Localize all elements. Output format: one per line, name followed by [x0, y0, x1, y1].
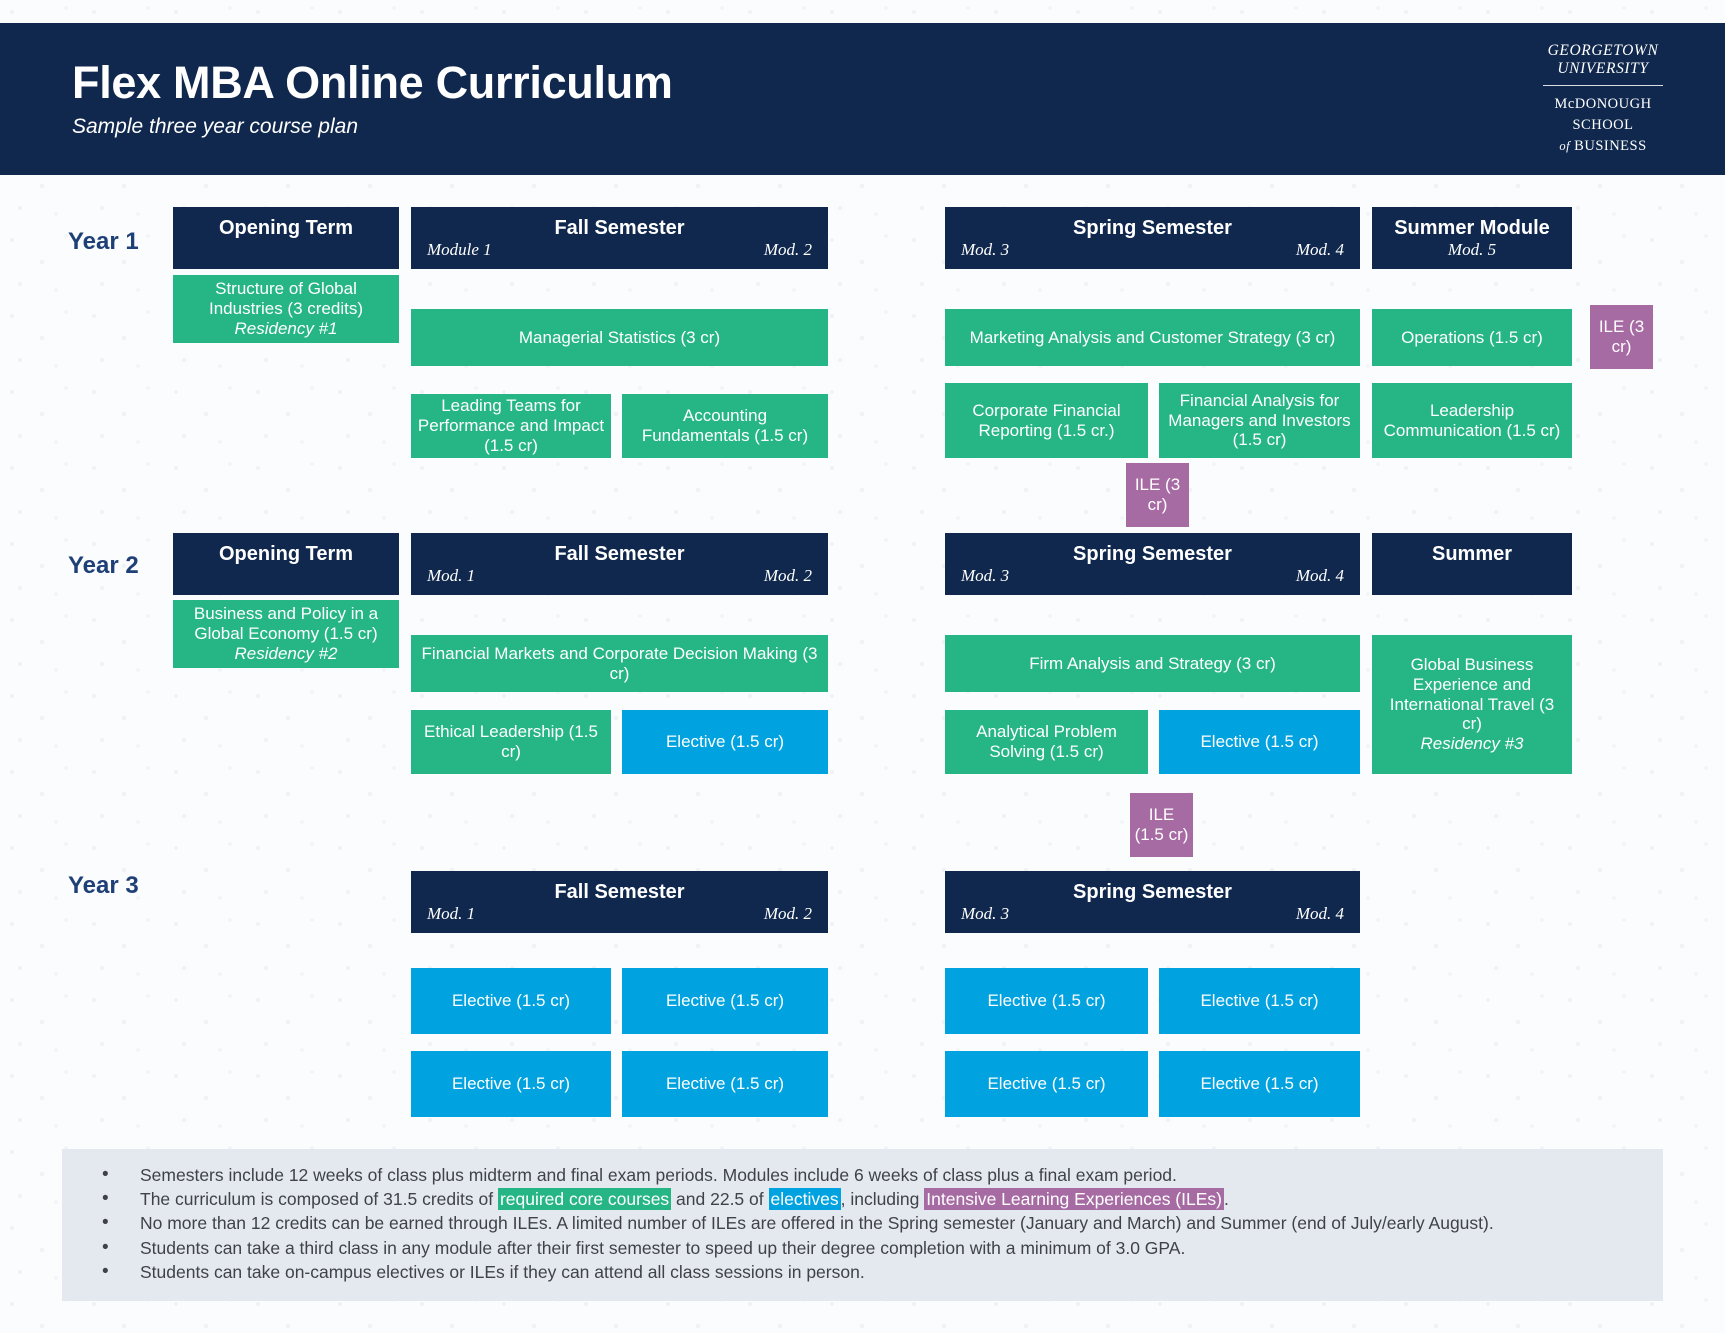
y2-summer-title: Summer — [1372, 543, 1572, 566]
y2-fall-mod-left: Mod. 1 — [427, 566, 475, 586]
y2-summer-global-business-experience: Global Business Experience and Internati… — [1372, 635, 1572, 774]
year-1-label: Year 1 — [68, 228, 139, 256]
y2-fall-title: Fall Semester — [411, 543, 828, 566]
y2-fall-header: Fall Semester Mod. 1 Mod. 2 — [411, 533, 828, 595]
y1-spring-modules: Mod. 3 Mod. 4 — [945, 240, 1360, 260]
y1-fall-mod-right: Mod. 2 — [764, 240, 812, 260]
y2-opening-term-title: Opening Term — [173, 543, 399, 566]
y3-fall-header: Fall Semester Mod. 1 Mod. 2 — [411, 871, 828, 933]
note-item-2: The curriculum is composed of 31.5 credi… — [84, 1187, 1641, 1211]
y1-fall-managerial-statistics: Managerial Statistics (3 cr) — [411, 309, 828, 366]
y1-summer-header: Summer Module Mod. 5 — [1372, 207, 1572, 269]
note2-part-d: . — [1224, 1189, 1229, 1209]
y2-spring-ile: ILE (1.5 cr) — [1130, 793, 1193, 857]
y1-spring-marketing-analysis: Marketing Analysis and Customer Strategy… — [945, 309, 1360, 366]
y2-spring-elective: Elective (1.5 cr) — [1159, 710, 1360, 774]
y2-fall-elective: Elective (1.5 cr) — [622, 710, 828, 774]
y1-spring-financial-analysis: Financial Analysis for Managers and Inve… — [1159, 383, 1360, 458]
y2-opening-residency: Residency #2 — [234, 644, 337, 664]
note2-core-highlight: required core courses — [498, 1188, 671, 1210]
y3-fall-title: Fall Semester — [411, 881, 828, 904]
y3-fall-elective-2: Elective (1.5 cr) — [622, 968, 828, 1034]
y3-fall-elective-1: Elective (1.5 cr) — [411, 968, 611, 1034]
y2-summer-residency: Residency #3 — [1420, 734, 1523, 754]
y1-opening-course-name: Structure of Global Industries (3 credit… — [179, 279, 393, 318]
y3-spring-modules: Mod. 3 Mod. 4 — [945, 904, 1360, 924]
y1-spring-title: Spring Semester — [945, 217, 1360, 240]
y3-spring-mod-left: Mod. 3 — [961, 904, 1009, 924]
y1-summer-mod: Mod. 5 — [1448, 240, 1496, 260]
y1-summer-operations: Operations (1.5 cr) — [1372, 309, 1572, 366]
note-item-4: Students can take a third class in any m… — [84, 1236, 1641, 1260]
y1-fall-header: Fall Semester Module 1 Mod. 2 — [411, 207, 828, 269]
y1-summer-title: Summer Module — [1372, 217, 1572, 240]
y3-spring-elective-1: Elective (1.5 cr) — [945, 968, 1148, 1034]
y1-fall-mod-left: Module 1 — [427, 240, 492, 260]
curriculum-grid: Year 1 Opening Term Structure of Global … — [0, 0, 1725, 1333]
y3-spring-elective-3: Elective (1.5 cr) — [945, 1051, 1148, 1117]
y2-opening-term-course: Business and Policy in a Global Economy … — [173, 600, 399, 668]
y2-fall-mod-right: Mod. 2 — [764, 566, 812, 586]
y2-spring-firm-analysis: Firm Analysis and Strategy (3 cr) — [945, 635, 1360, 692]
year-3-label: Year 3 — [68, 872, 139, 900]
y3-fall-modules: Mod. 1 Mod. 2 — [411, 904, 828, 924]
y3-spring-header: Spring Semester Mod. 3 Mod. 4 — [945, 871, 1360, 933]
y1-fall-leading-teams: Leading Teams for Performance and Impact… — [411, 394, 611, 458]
footer-notes-panel: Semesters include 12 weeks of class plus… — [62, 1149, 1663, 1301]
year-2-label: Year 2 — [68, 552, 139, 580]
note2-part-b: and 22.5 of — [671, 1189, 768, 1209]
y2-spring-mod-left: Mod. 3 — [961, 566, 1009, 586]
note-item-3: No more than 12 credits can be earned th… — [84, 1211, 1641, 1235]
y2-opening-course-name: Business and Policy in a Global Economy … — [179, 604, 393, 643]
y3-spring-elective-2: Elective (1.5 cr) — [1159, 968, 1360, 1034]
y2-fall-ethical-leadership: Ethical Leadership (1.5 cr) — [411, 710, 611, 774]
y2-fall-financial-markets: Financial Markets and Corporate Decision… — [411, 635, 828, 692]
y1-summer-leadership-communication: Leadership Communication (1.5 cr) — [1372, 383, 1572, 458]
y1-summer-ile: ILE (3 cr) — [1590, 305, 1653, 369]
y3-spring-mod-right: Mod. 4 — [1296, 904, 1344, 924]
note-item-5: Students can take on-campus electives or… — [84, 1260, 1641, 1284]
y1-spring-corporate-financial-reporting: Corporate Financial Reporting (1.5 cr.) — [945, 383, 1148, 458]
y1-fall-modules: Module 1 Mod. 2 — [411, 240, 828, 260]
y1-spring-header: Spring Semester Mod. 3 Mod. 4 — [945, 207, 1360, 269]
y3-fall-mod-right: Mod. 2 — [764, 904, 812, 924]
note2-part-a: The curriculum is composed of 31.5 credi… — [140, 1189, 498, 1209]
y1-opening-term-course: Structure of Global Industries (3 credit… — [173, 275, 399, 343]
y1-opening-term-header: Opening Term — [173, 207, 399, 269]
notes-list: Semesters include 12 weeks of class plus… — [84, 1163, 1641, 1284]
y2-summer-header: Summer — [1372, 533, 1572, 595]
y1-fall-title: Fall Semester — [411, 217, 828, 240]
y1-fall-accounting-fundamentals: Accounting Fundamentals (1.5 cr) — [622, 394, 828, 458]
y1-opening-term-title: Opening Term — [173, 217, 399, 240]
y2-spring-header: Spring Semester Mod. 3 Mod. 4 — [945, 533, 1360, 595]
y2-opening-term-header: Opening Term — [173, 533, 399, 595]
y3-spring-elective-4: Elective (1.5 cr) — [1159, 1051, 1360, 1117]
note2-ile-highlight: Intensive Learning Experiences (ILEs) — [924, 1188, 1224, 1210]
y1-opening-residency: Residency #1 — [234, 319, 337, 339]
y2-fall-modules: Mod. 1 Mod. 2 — [411, 566, 828, 586]
y3-fall-mod-left: Mod. 1 — [427, 904, 475, 924]
y3-spring-title: Spring Semester — [945, 881, 1360, 904]
y2-spring-mod-right: Mod. 4 — [1296, 566, 1344, 586]
y2-summer-course-name: Global Business Experience and Internati… — [1378, 655, 1566, 734]
y3-fall-elective-3: Elective (1.5 cr) — [411, 1051, 611, 1117]
y3-fall-elective-4: Elective (1.5 cr) — [622, 1051, 828, 1117]
y2-spring-modules: Mod. 3 Mod. 4 — [945, 566, 1360, 586]
note-item-1: Semesters include 12 weeks of class plus… — [84, 1163, 1641, 1187]
note2-elective-highlight: electives — [769, 1188, 841, 1210]
y1-spring-mod-right: Mod. 4 — [1296, 240, 1344, 260]
y1-summer-modules: Mod. 5 — [1372, 240, 1572, 260]
y1-spring-mod-left: Mod. 3 — [961, 240, 1009, 260]
y2-spring-title: Spring Semester — [945, 543, 1360, 566]
y1-spring-ile: ILE (3 cr) — [1126, 463, 1189, 527]
y2-spring-analytical-problem-solving: Analytical Problem Solving (1.5 cr) — [945, 710, 1148, 774]
note2-part-c: , including — [841, 1189, 925, 1209]
curriculum-page: Flex MBA Online Curriculum Sample three … — [0, 0, 1725, 1333]
